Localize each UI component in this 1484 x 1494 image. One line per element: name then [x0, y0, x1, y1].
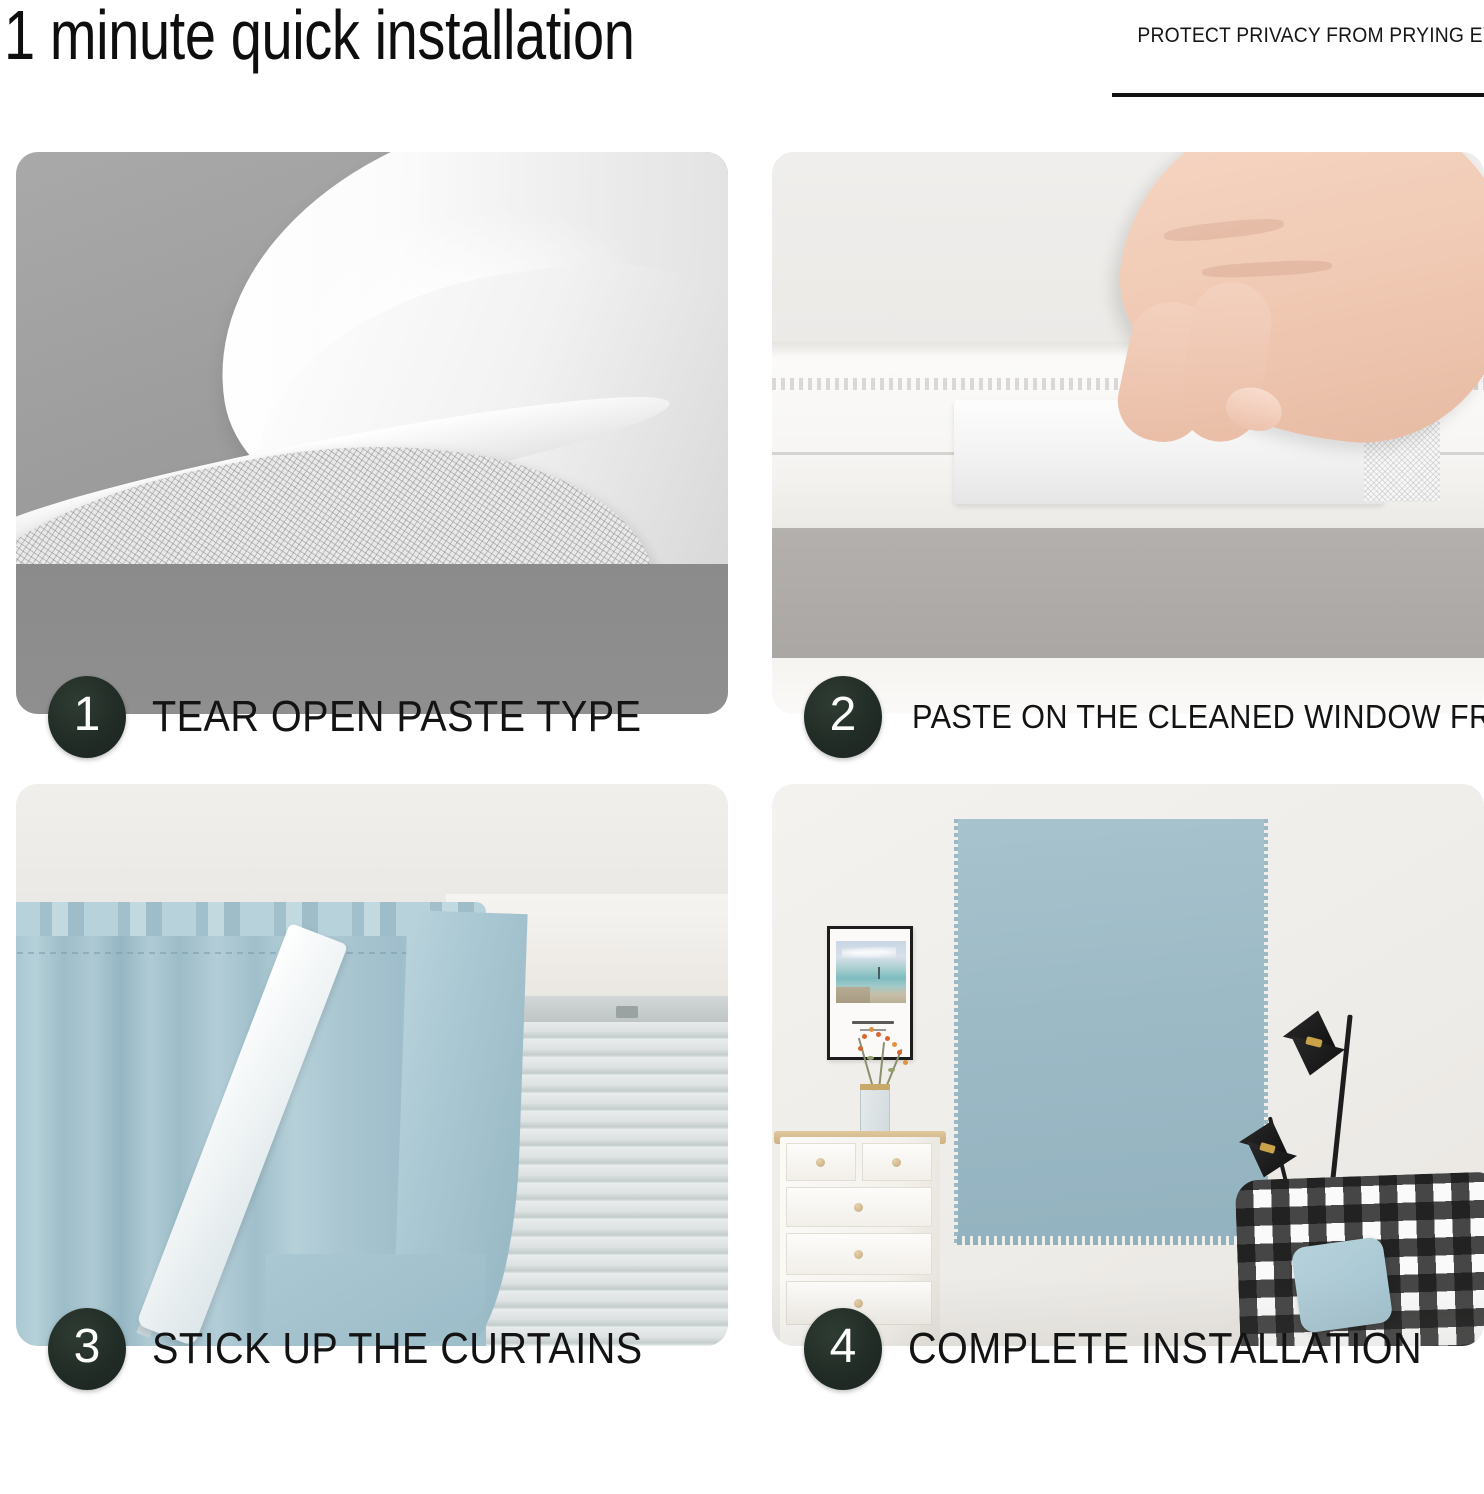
step-caption-4: COMPLETE INSTALLATION	[908, 1324, 1422, 1374]
step-1-caption-row: 1 TEAR OPEN PASTE TYPE	[16, 674, 728, 760]
wall-grey-band	[772, 528, 1484, 668]
berry-4	[885, 1036, 890, 1041]
installed-curtain-hem	[957, 1236, 1265, 1245]
berry-2	[869, 1027, 874, 1032]
leaf-2	[888, 1068, 895, 1072]
berry-7	[858, 1046, 863, 1051]
blind-bracket	[616, 1006, 638, 1018]
step-card-4: 4 COMPLETE INSTALLATION	[772, 784, 1484, 1392]
dresser-knob-2	[892, 1158, 901, 1167]
step-badge-3: 3	[48, 1308, 126, 1390]
step-3-photo	[16, 784, 728, 1346]
step-badge-2: 2	[804, 676, 882, 758]
vase-gold-ring	[860, 1084, 890, 1090]
dresser-knob-4	[854, 1250, 863, 1259]
step-4-photo	[772, 784, 1484, 1346]
step-3-caption-row: 3 STICK UP THE CURTAINS	[16, 1306, 728, 1392]
step-card-3: 3 STICK UP THE CURTAINS	[16, 784, 728, 1392]
berry-3	[876, 1032, 881, 1037]
step-1-photo	[16, 152, 728, 714]
step-2-photo	[772, 152, 1484, 714]
step-card-1: 1 TEAR OPEN PASTE TYPE	[16, 152, 728, 760]
artwork-beach	[836, 987, 870, 1003]
dresser-knob-1	[816, 1158, 825, 1167]
berry-1	[862, 1034, 867, 1039]
artwork-caption-line-1	[852, 1021, 894, 1024]
leaf-1	[867, 1056, 874, 1060]
berry-6	[897, 1050, 902, 1055]
step-4-caption-row: 4 COMPLETE INSTALLATION	[772, 1306, 1484, 1392]
artwork-sailboat	[878, 967, 880, 979]
step-badge-1: 1	[48, 676, 126, 758]
berry-5	[892, 1042, 897, 1047]
step-card-2: 2 PASTE ON THE CLEANED WINDOW FRAME	[772, 152, 1484, 760]
step-caption-1: TEAR OPEN PASTE TYPE	[152, 692, 641, 742]
artwork-clouds	[842, 947, 896, 959]
berry-8	[903, 1060, 908, 1065]
step-2-caption-row: 2 PASTE ON THE CLEANED WINDOW FRAME	[772, 674, 1484, 760]
framed-artwork	[827, 926, 913, 1060]
dresser-knob-3	[854, 1203, 863, 1212]
step-caption-3: STICK UP THE CURTAINS	[152, 1324, 643, 1374]
installed-curtain-panel	[957, 819, 1265, 1244]
step-badge-4: 4	[804, 1308, 882, 1390]
steps-grid: 1 TEAR OPEN PASTE TYPE	[0, 0, 1484, 1494]
step-caption-2: PASTE ON THE CLEANED WINDOW FRAME	[912, 698, 1484, 736]
infographic-page: 1 minute quick installation PROTECT PRIV…	[0, 0, 1484, 1494]
